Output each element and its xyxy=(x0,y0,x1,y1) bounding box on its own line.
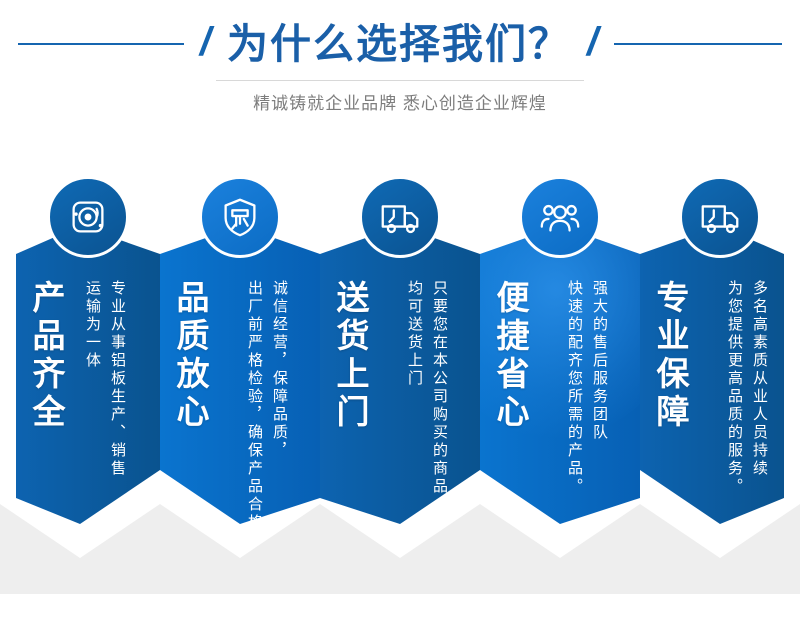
team-people-icon xyxy=(519,176,601,258)
feature-panel-professional-guarantee[interactable]: 专业保障 多名高素质从业人员持续 为您提供更高品质的服务。 xyxy=(640,168,784,640)
feature-panel-product-complete[interactable]: 产品齐全 专业从事铝板生产、销售 运输为一体 xyxy=(16,168,160,640)
page-title: 为什么选择我们？ xyxy=(213,24,585,65)
feature-band: 产品齐全 专业从事铝板生产、销售 运输为一体 品质放心 诚信经营，保障品质， 出… xyxy=(0,168,800,640)
title-row: / 为什么选择我们？ / xyxy=(0,14,800,74)
panel-desc-1-line-2: 运输为一体 xyxy=(85,280,100,370)
subtitle-block: 精诚铸就企业品牌 悉心创造企业辉煌 xyxy=(0,80,800,114)
slash-left-icon: / xyxy=(198,22,213,62)
delivery-truck-icon xyxy=(679,176,761,258)
feature-panel-quality-assured[interactable]: 品质放心 诚信经营，保障品质， 出厂前严格检验，确保产品合格 xyxy=(160,168,320,640)
panel-desc-3-line-2: 均可送货上门 xyxy=(407,280,422,388)
panel-desc-5-line-1: 多名高素质从业人员持续 xyxy=(752,280,767,478)
panel-desc-5-line-2: 为您提供更高品质的服务。 xyxy=(727,280,742,496)
safe-vault-icon xyxy=(47,176,129,258)
shield-quality-icon xyxy=(199,176,281,258)
delivery-truck-icon xyxy=(359,176,441,258)
subtitle-divider xyxy=(216,80,584,81)
panel-title-2: 品质放心 xyxy=(174,280,207,432)
title-rule-left xyxy=(18,43,184,45)
panel-title-3: 送货上门 xyxy=(334,280,367,432)
panel-title-4: 便捷省心 xyxy=(494,280,527,432)
page-header: / 为什么选择我们？ / 精诚铸就企业品牌 悉心创造企业辉煌 xyxy=(0,0,800,150)
panel-desc-4-line-1: 强大的售后服务团队 xyxy=(592,280,607,442)
panel-desc-2-line-1: 诚信经营，保障品质， xyxy=(272,280,287,460)
panel-desc-1-line-1: 专业从事铝板生产、销售 xyxy=(110,280,125,478)
feature-panel-home-delivery[interactable]: 送货上门 只要您在本公司购买的商品， 均可送货上门 xyxy=(320,168,480,640)
panel-desc-3-line-1: 只要您在本公司购买的商品， xyxy=(432,280,447,514)
page-subtitle: 精诚铸就企业品牌 悉心创造企业辉煌 xyxy=(0,89,800,114)
slash-right-icon: / xyxy=(585,22,600,62)
panel-title-1: 产品齐全 xyxy=(30,280,63,432)
title-rule-right xyxy=(614,43,782,45)
panel-title-5: 专业保障 xyxy=(654,280,687,432)
panel-desc-4-line-2: 快速的配齐您所需的产品。 xyxy=(567,280,582,496)
panel-desc-2-line-2: 出厂前严格检验，确保产品合格 xyxy=(247,280,262,532)
feature-panel-convenient-worry-free[interactable]: 便捷省心 强大的售后服务团队 快速的配齐您所需的产品。 xyxy=(480,168,640,640)
